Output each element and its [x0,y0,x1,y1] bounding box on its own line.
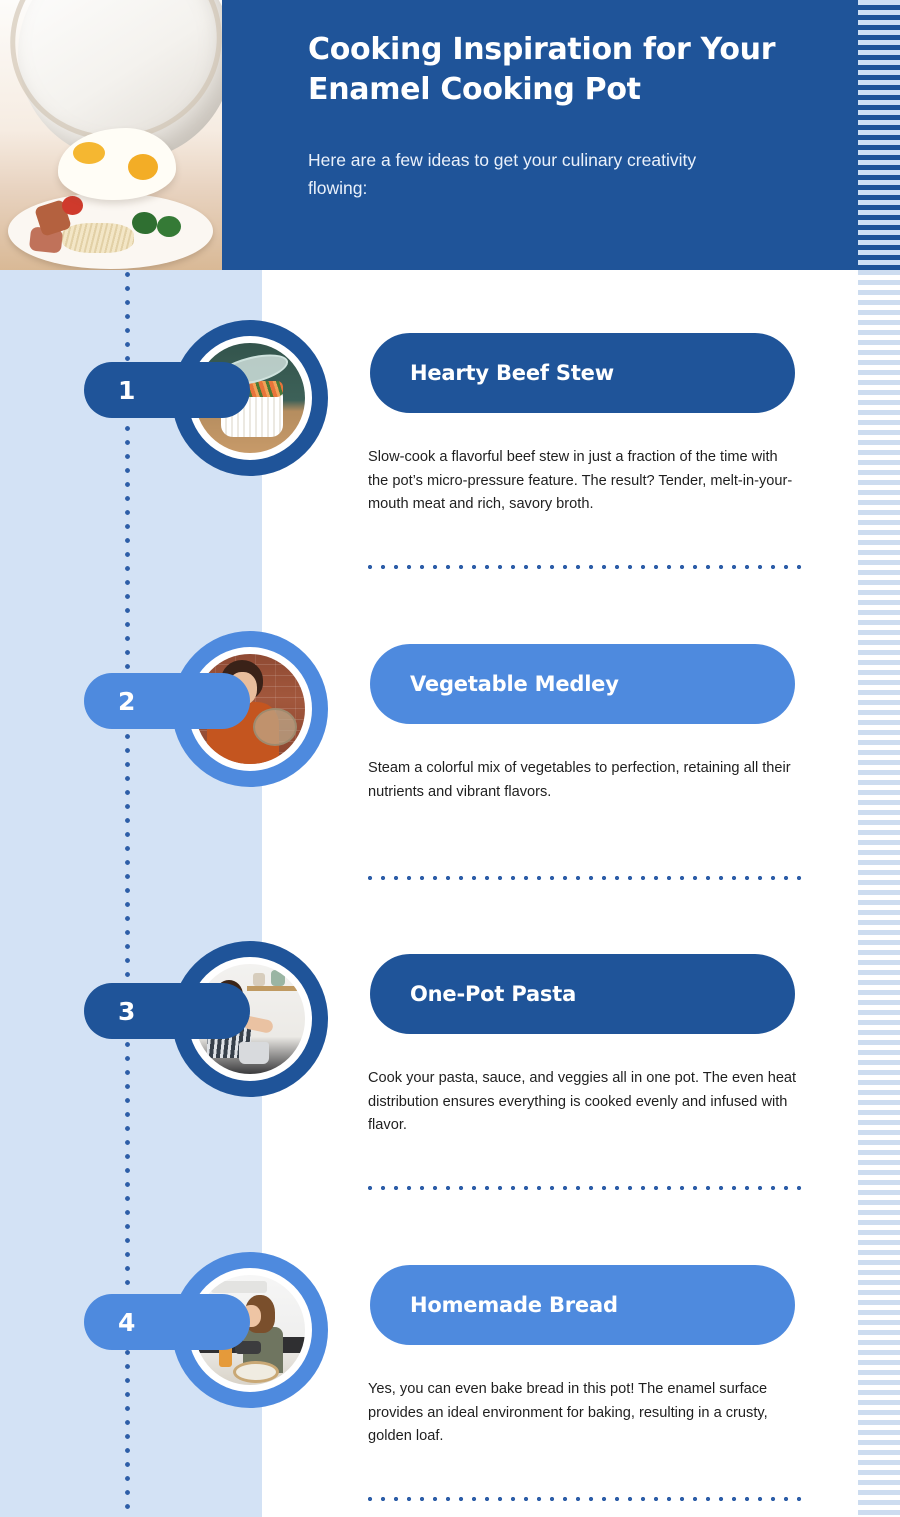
stripe-decoration-bottom [858,270,900,1517]
item-title: Vegetable Medley [410,672,619,696]
item-title-pill[interactable]: Homemade Bread [370,1265,795,1345]
header-banner: Cooking Inspiration for Your Enamel Cook… [222,0,858,270]
item-description: Steam a colorful mix of vegetables to pe… [368,757,798,804]
item-number: 4 [118,1308,135,1337]
item-title: Homemade Bread [410,1293,618,1317]
item-description: Cook your pasta, sauce, and veggies all … [368,1067,798,1138]
item-number-badge: 4 [84,1294,250,1350]
item-number-badge: 1 [84,362,250,418]
infographic-page: Cooking Inspiration for Your Enamel Cook… [0,0,900,1517]
page-subtitle: Here are a few ideas to get your culinar… [308,146,738,203]
hero-tomato-icon [62,196,83,215]
hero-noodles-icon [62,223,134,253]
item-title-pill[interactable]: One-Pot Pasta [370,954,795,1034]
section-divider [368,1186,808,1190]
item-number-badge: 2 [84,673,250,729]
page-title: Cooking Inspiration for Your Enamel Cook… [308,30,816,110]
item-description: Yes, you can even bake bread in this pot… [368,1378,798,1449]
hero-image [0,0,222,270]
hero-broccoli-icon [132,212,157,234]
section-divider [368,876,808,880]
item-title: One-Pot Pasta [410,982,576,1006]
stripe-decoration-top [858,0,900,270]
item-title-pill[interactable]: Hearty Beef Stew [370,333,795,413]
section-divider [368,565,808,569]
item-title: Hearty Beef Stew [410,361,614,385]
hero-yolk-icon [73,142,105,164]
item-description: Slow-cook a flavorful beef stew in just … [368,446,798,517]
item-number: 1 [118,376,135,405]
section-divider [368,1497,808,1501]
hero-broccoli-icon-2 [157,216,181,237]
hero-yolk-icon-2 [128,154,158,180]
item-title-pill[interactable]: Vegetable Medley [370,644,795,724]
item-number: 3 [118,997,135,1026]
item-number-badge: 3 [84,983,250,1039]
item-number: 2 [118,687,135,716]
